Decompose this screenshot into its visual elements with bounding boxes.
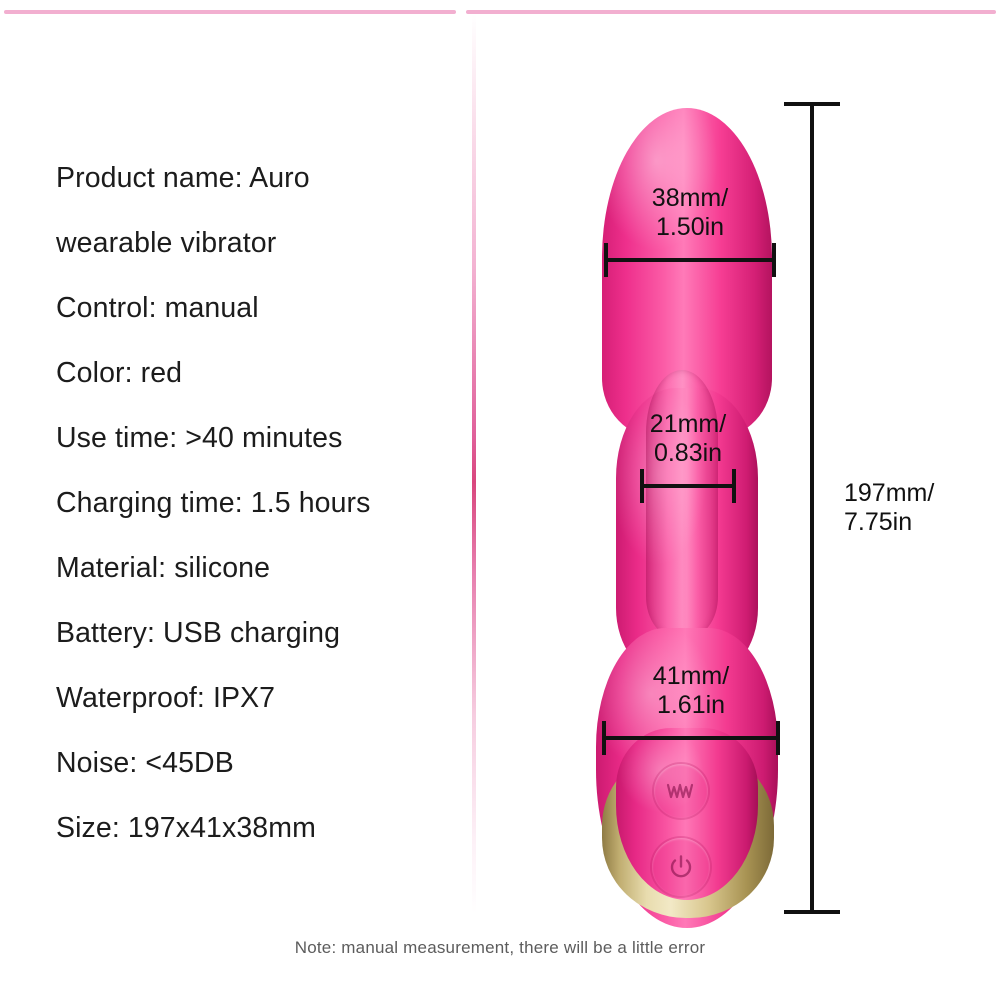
dimension-base-width-mm: 41mm/ xyxy=(653,662,729,691)
dimension-cap-left xyxy=(604,243,608,277)
dimension-top-width-inch: 1.50in xyxy=(652,213,728,242)
spec-line-battery: Battery: USB charging xyxy=(56,601,456,666)
power-button[interactable] xyxy=(652,838,710,896)
dimension-base-width-label: 41mm/ 1.61in xyxy=(653,662,729,720)
dimension-total-height-inch: 7.75in xyxy=(844,508,934,537)
spec-line-color: Color: red xyxy=(56,341,456,406)
dimension-line xyxy=(640,484,736,488)
dimension-total-height-mm: 197mm/ xyxy=(844,479,934,508)
product-spec-page: Product name: Auro wearable vibrator Con… xyxy=(0,0,1000,1000)
spec-line-product-name-cont: wearable vibrator xyxy=(56,211,456,276)
dimension-top-width-label: 38mm/ 1.50in xyxy=(652,184,728,242)
measurement-note: Note: manual measurement, there will be … xyxy=(0,938,1000,958)
spec-line-charging-time: Charging time: 1.5 hours xyxy=(56,471,456,536)
dimension-top-width-mm: 38mm/ xyxy=(652,184,728,213)
dimension-mid-width-label: 21mm/ 0.83in xyxy=(650,410,726,468)
spec-line-noise: Noise: <45DB xyxy=(56,731,456,796)
spec-line-waterproof: Waterproof: IPX7 xyxy=(56,666,456,731)
dimension-base-width-inch: 1.61in xyxy=(653,691,729,720)
spec-line-use-time: Use time: >40 minutes xyxy=(56,406,456,471)
vertical-divider xyxy=(472,14,476,914)
dimension-cap-right xyxy=(772,243,776,277)
power-icon xyxy=(668,854,694,880)
dimension-cap-right xyxy=(776,721,780,755)
spec-line-size: Size: 197x41x38mm xyxy=(56,796,456,861)
dimension-mid-width-mm: 21mm/ xyxy=(650,410,726,439)
dimension-cap-left xyxy=(640,469,644,503)
vibration-mode-button[interactable] xyxy=(654,764,708,818)
spec-line-control: Control: manual xyxy=(56,276,456,341)
top-rule-left xyxy=(4,10,456,14)
dimension-cap-right xyxy=(732,469,736,503)
specification-list: Product name: Auro wearable vibrator Con… xyxy=(56,146,456,861)
spec-line-product-name: Product name: Auro xyxy=(56,146,456,211)
dimension-cap-bottom xyxy=(784,910,840,914)
top-rule-right xyxy=(466,10,996,14)
spec-line-material: Material: silicone xyxy=(56,536,456,601)
dimension-line xyxy=(602,736,780,740)
dimension-total-height-label: 197mm/ 7.75in xyxy=(844,479,934,537)
dimension-line xyxy=(604,258,776,262)
wave-icon xyxy=(666,782,696,800)
dimension-cap-top xyxy=(784,102,840,106)
dimension-mid-width-inch: 0.83in xyxy=(650,439,726,468)
dimension-cap-left xyxy=(602,721,606,755)
dimension-line xyxy=(810,102,814,914)
